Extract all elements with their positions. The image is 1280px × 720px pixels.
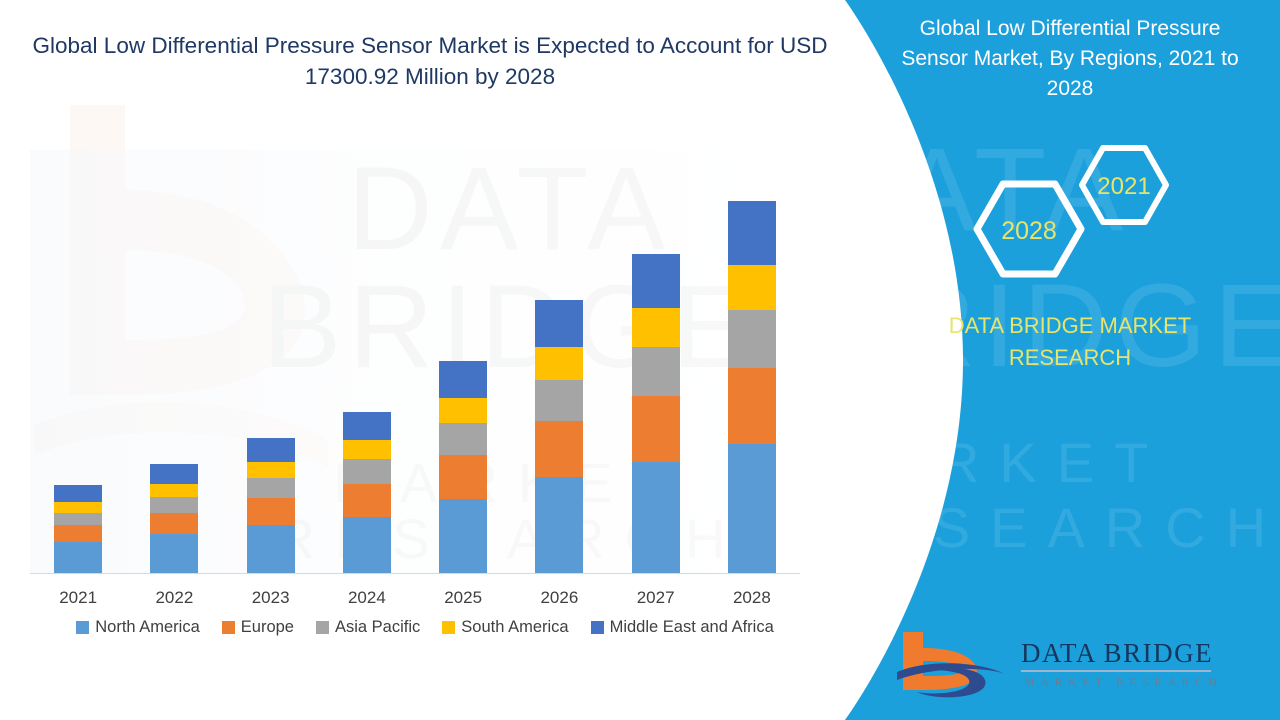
bar-segment[interactable] <box>343 484 391 517</box>
hex-badge-group: 2021 2028 <box>955 140 1185 285</box>
bar-segment[interactable] <box>343 440 391 459</box>
bar-segment[interactable] <box>247 525 295 573</box>
bar-segment[interactable] <box>150 464 198 484</box>
logo-mark-icon <box>897 632 1005 697</box>
bar-segment[interactable] <box>632 396 680 462</box>
infographic-root: DATA BRIDGE MARKET RESEARCH Global Low D… <box>0 0 1280 720</box>
side-panel: DATA BRIDGE MARKET RESEARCH Global Low D… <box>845 0 1280 720</box>
bar-2024[interactable] <box>343 412 391 573</box>
bar-segment[interactable] <box>54 485 102 502</box>
x-axis-label: 2024 <box>343 588 391 608</box>
bar-segment[interactable] <box>439 423 487 455</box>
legend-swatch-icon <box>316 621 329 634</box>
logo-primary-text: DATA BRIDGE <box>1021 638 1213 668</box>
bar-segment[interactable] <box>728 265 776 310</box>
bar-segment[interactable] <box>54 542 102 573</box>
legend-item[interactable]: South America <box>442 618 568 637</box>
bar-2028[interactable] <box>728 201 776 573</box>
plot-area <box>30 150 800 574</box>
bar-segment[interactable] <box>343 517 391 574</box>
legend-label: North America <box>95 618 200 637</box>
bar-segment[interactable] <box>54 513 102 525</box>
bar-segment[interactable] <box>535 300 583 347</box>
x-axis-label: 2023 <box>247 588 295 608</box>
data-bridge-logo: DATA BRIDGE MARKET RESEARCH <box>893 628 1233 700</box>
bar-2023[interactable] <box>247 438 295 573</box>
x-axis-labels: 20212022202320242025202620272028 <box>30 588 800 608</box>
legend-swatch-icon <box>442 621 455 634</box>
bar-2021[interactable] <box>54 485 102 573</box>
chart-panel: DATA BRIDGE MARKET RESEARCH Global Low D… <box>0 0 900 720</box>
bar-segment[interactable] <box>150 497 198 513</box>
bar-segment[interactable] <box>150 513 198 535</box>
side-panel-title: Global Low Differential Pressure Sensor … <box>885 14 1255 103</box>
brand-name: DATA BRIDGE MARKET RESEARCH <box>885 310 1255 374</box>
bar-2027[interactable] <box>632 254 680 573</box>
bar-segment[interactable] <box>247 438 295 462</box>
bar-segment[interactable] <box>54 525 102 542</box>
bar-segment[interactable] <box>150 534 198 573</box>
bar-segment[interactable] <box>150 484 198 497</box>
legend-label: Asia Pacific <box>335 618 420 637</box>
bar-2026[interactable] <box>535 300 583 573</box>
bar-segment[interactable] <box>343 459 391 483</box>
bar-segment[interactable] <box>728 444 776 573</box>
bar-segment[interactable] <box>439 361 487 398</box>
x-axis-label: 2028 <box>728 588 776 608</box>
legend-item[interactable]: Asia Pacific <box>316 618 420 637</box>
bar-segment[interactable] <box>247 498 295 525</box>
legend-item[interactable]: Europe <box>222 618 294 637</box>
bar-segment[interactable] <box>535 421 583 477</box>
hex-badge-2028-label: 2028 <box>1001 217 1057 245</box>
bar-segment[interactable] <box>535 347 583 380</box>
side-panel-content: Global Low Differential Pressure Sensor … <box>845 0 1280 720</box>
bar-segment[interactable] <box>439 455 487 498</box>
hex-badge-2021-label: 2021 <box>1097 173 1150 200</box>
bar-segment[interactable] <box>439 398 487 423</box>
x-axis-label: 2022 <box>150 588 198 608</box>
legend-swatch-icon <box>591 621 604 634</box>
hex-badge-2021: 2021 <box>1082 148 1166 222</box>
legend-label: Middle East and Africa <box>610 618 774 637</box>
chart-legend: North AmericaEuropeAsia PacificSouth Ame… <box>30 618 820 637</box>
legend-swatch-icon <box>76 621 89 634</box>
bar-segment[interactable] <box>535 477 583 573</box>
bar-segment[interactable] <box>343 412 391 440</box>
bar-segment[interactable] <box>728 310 776 367</box>
logo-secondary-text: MARKET RESEARCH <box>1024 675 1223 689</box>
bar-segment[interactable] <box>54 502 102 512</box>
x-axis-label: 2021 <box>54 588 102 608</box>
bar-segment[interactable] <box>247 462 295 478</box>
x-axis-line <box>30 573 800 574</box>
bar-2025[interactable] <box>439 361 487 573</box>
chart-title: Global Low Differential Pressure Sensor … <box>20 30 840 92</box>
bar-segment[interactable] <box>632 254 680 309</box>
x-axis-label: 2027 <box>632 588 680 608</box>
bar-segment[interactable] <box>439 499 487 573</box>
bar-segment[interactable] <box>632 308 680 347</box>
hex-badge-2028: 2028 <box>977 184 1081 274</box>
legend-label: Europe <box>241 618 294 637</box>
bar-2022[interactable] <box>150 464 198 573</box>
legend-item[interactable]: North America <box>76 618 200 637</box>
legend-item[interactable]: Middle East and Africa <box>591 618 774 637</box>
bar-segment[interactable] <box>728 201 776 265</box>
bar-segment[interactable] <box>247 478 295 498</box>
bar-segment[interactable] <box>728 368 776 444</box>
bar-segment[interactable] <box>632 347 680 396</box>
bar-segment[interactable] <box>632 462 680 573</box>
legend-label: South America <box>461 618 568 637</box>
bar-group <box>30 150 800 573</box>
bar-segment[interactable] <box>535 380 583 421</box>
x-axis-label: 2025 <box>439 588 487 608</box>
x-axis-label: 2026 <box>535 588 583 608</box>
legend-swatch-icon <box>222 621 235 634</box>
